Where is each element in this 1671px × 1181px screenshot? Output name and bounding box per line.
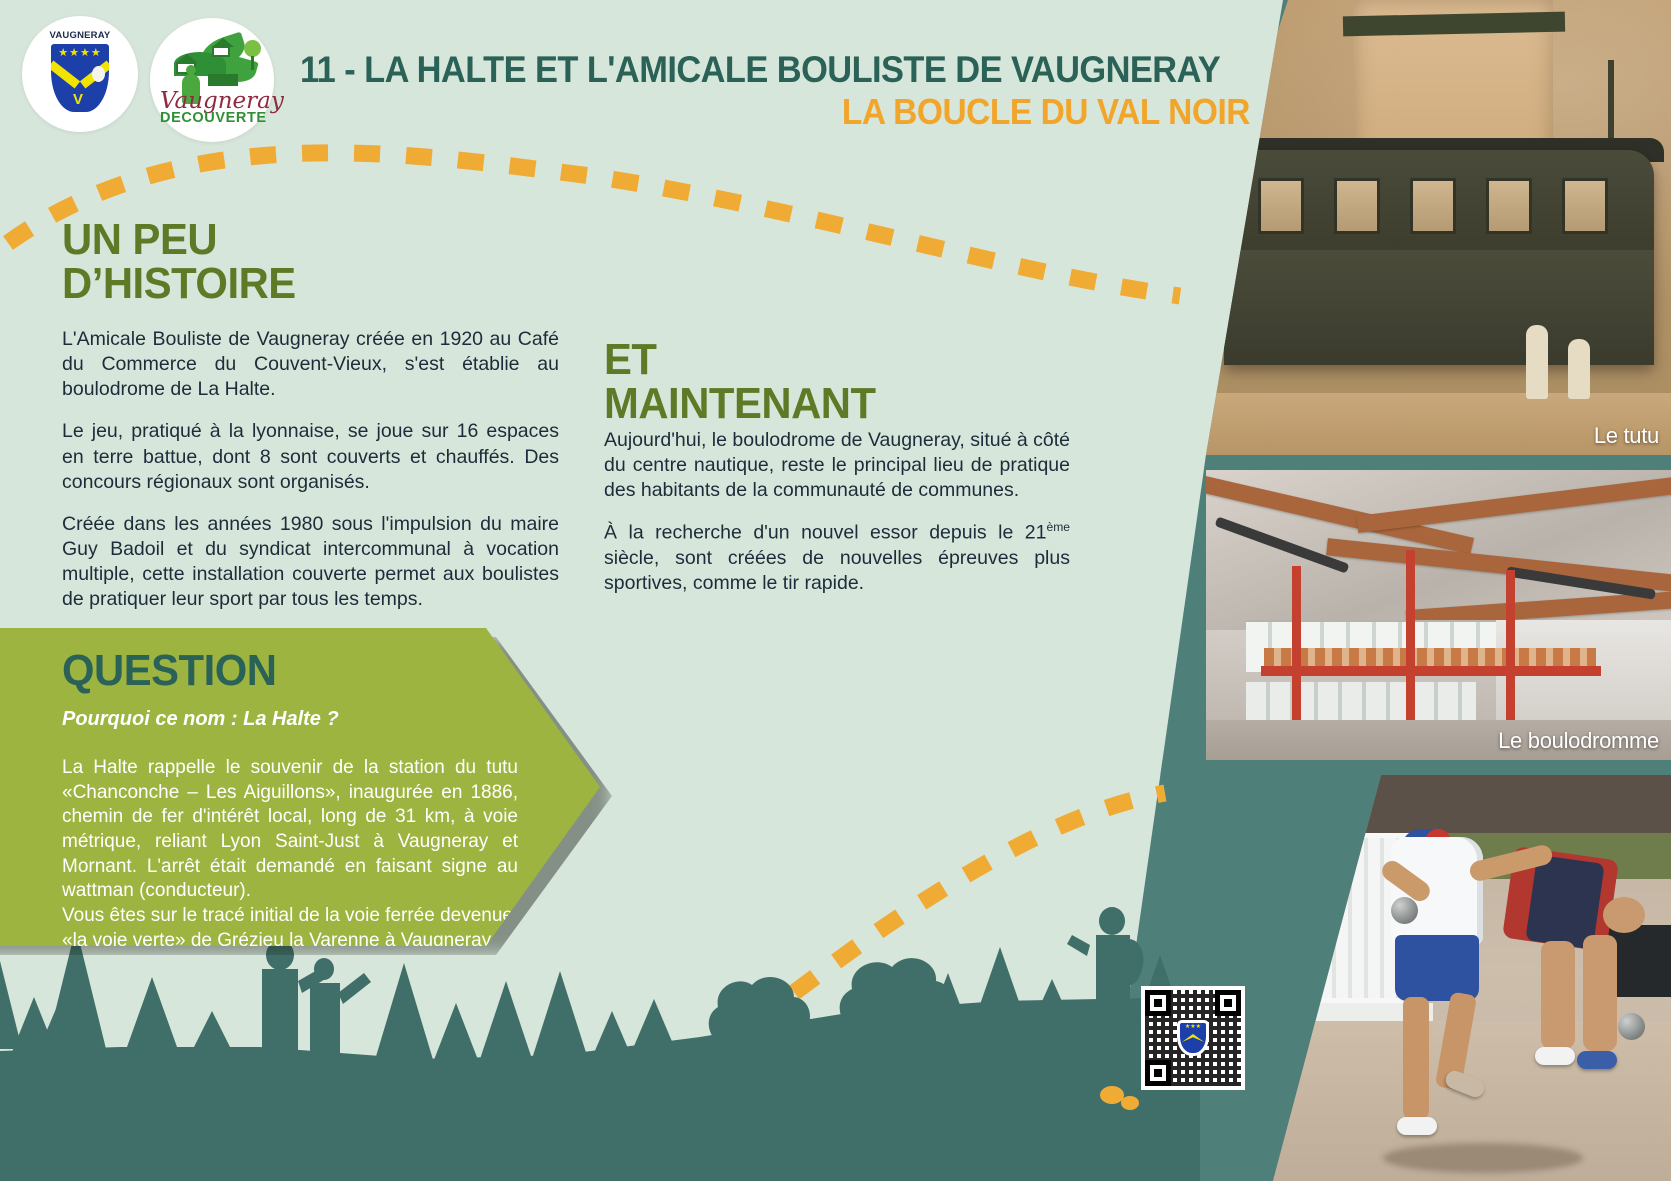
qr-finder-pattern [1145,1060,1171,1086]
pine-tree [626,999,682,1065]
question-title: QUESTION [62,646,277,696]
photo-divider [1110,760,1671,775]
now-paragraph-superscript: À la recherche d'un nouvel essor depuis … [604,520,1070,596]
now-text-column: Aujourd'hui, le boulodrome de Vaugneray,… [604,428,1070,596]
pine-tree [374,963,434,1063]
tram-passenger [1568,339,1590,399]
photo-boulodrome-interior: Le boulodromme [1206,470,1671,760]
barn-icon [208,74,238,86]
pine-tree [122,977,182,1061]
pine-tree [968,947,1032,1039]
crest-stars: ★★★★ [51,48,109,59]
history-heading-line2: D’HISTOIRE [62,262,296,306]
second-player-leg [1583,935,1617,1051]
photo-divider [1110,455,1671,470]
now-heading-line2: MAINTENANT [604,382,876,426]
crest-emblem [92,66,105,82]
coat-of-arms-icon: ★★★★ V [51,44,109,112]
history-paragraph: Le jeu, pratiqué à la lyonnaise, se joue… [62,419,559,494]
house-roof-icon [212,38,234,47]
now-p2-pre: À la recherche d'un nouvel essor depuis … [604,522,1047,544]
track-ground [1138,393,1671,455]
history-heading-line1: UN PEU [62,218,296,262]
crest-graphic: VAUGNERAY ★★★★ V [47,32,113,116]
tree-icon [244,40,261,57]
crest-label: VAUGNERAY [47,30,113,41]
vaugneray-crest-logo: VAUGNERAY ★★★★ V [22,16,138,132]
qr-crest-chevron [1182,1034,1204,1042]
decouverte-graphic: Vaugneray DECOUVERTE [160,32,264,128]
tram-window [1410,178,1456,234]
history-text-column: L'Amicale Bouliste de Vaugneray créée en… [62,327,559,612]
photo-boules-player [1273,775,1671,1181]
second-player-shoe [1577,1051,1617,1069]
history-paragraph: Créée dans les années 1980 sous l'impuls… [62,512,559,613]
question-prompt: Pourquoi ce nom : La Halte ? [62,708,532,731]
boule-ball [1618,1013,1645,1040]
qr-center-crest-icon: ★★★ [1180,1023,1206,1053]
now-paragraph: Aujourd'hui, le boulodrome de Vaugneray,… [604,428,1070,503]
second-player-head [1603,897,1645,933]
section-heading-now: ET MAINTENANT [604,338,876,426]
decouverte-wordmark-bottom: DECOUVERTE [160,111,264,126]
question-answer-p1: La Halte rappelle le souvenir de la stat… [62,756,518,904]
pine-tree [186,1011,238,1063]
question-answer: La Halte rappelle le souvenir de la stat… [62,756,518,978]
ordinal-suffix: ème [1047,520,1071,534]
ground-shadow [1383,1143,1583,1173]
photo-caption-tutu: Le tutu [1594,423,1659,449]
now-heading-line1: ET [604,338,876,382]
second-player-leg [1541,941,1575,1049]
pine-tree [432,1003,480,1065]
player-shorts [1395,935,1479,1001]
crest-letter: V [73,92,83,107]
qr-finder-pattern [1145,990,1171,1016]
steel-post [1292,566,1301,730]
qr-code[interactable]: ★★★ [1141,986,1245,1090]
steel-post [1506,570,1515,730]
bush-trunk [752,1041,760,1075]
qr-matrix: ★★★ [1145,990,1241,1086]
steel-post [1406,550,1415,730]
tram-window [1258,178,1304,234]
house-icon [212,46,230,57]
qr-finder-pattern [1215,990,1241,1016]
house-roof-icon [176,54,198,63]
section-heading-history: UN PEU D’HISTOIRE [62,218,296,306]
vaugneray-decouverte-logo: Vaugneray DECOUVERTE [150,18,274,142]
player-leg [1403,997,1429,1119]
pine-tree [478,981,534,1065]
player-shoe [1397,1117,1437,1135]
page-subtitle: LA BOUCLE DU VAL NOIR [367,93,1251,131]
now-p2-post: siècle, sont créées de nouvelles épreuve… [604,547,1070,594]
bush-trunk [886,1027,895,1067]
photo-background-shade [1273,775,1671,833]
tree-trunk [251,56,254,70]
tram-passenger [1526,325,1548,399]
page-title: 11 - LA HALTE ET L'AMICALE BOULISTE DE V… [300,50,1184,89]
mezzanine-railing [1261,666,1601,676]
pine-tree [530,971,590,1065]
qr-crest-stars: ★★★ [1180,1024,1206,1030]
tram-window [1562,178,1608,234]
tram-window [1486,178,1532,234]
photo-caption-boulodromme: Le boulodromme [1498,728,1659,754]
boule-ball [1391,897,1418,924]
poster-page: Le tutu Le boulodromme [0,0,1671,1181]
question-panel: QUESTION Pourquoi ce nom : La Halte ? La… [0,628,600,946]
history-paragraph: L'Amicale Bouliste de Vaugneray créée en… [62,327,559,402]
tram-window [1334,178,1380,234]
second-player-shoe [1535,1047,1575,1065]
